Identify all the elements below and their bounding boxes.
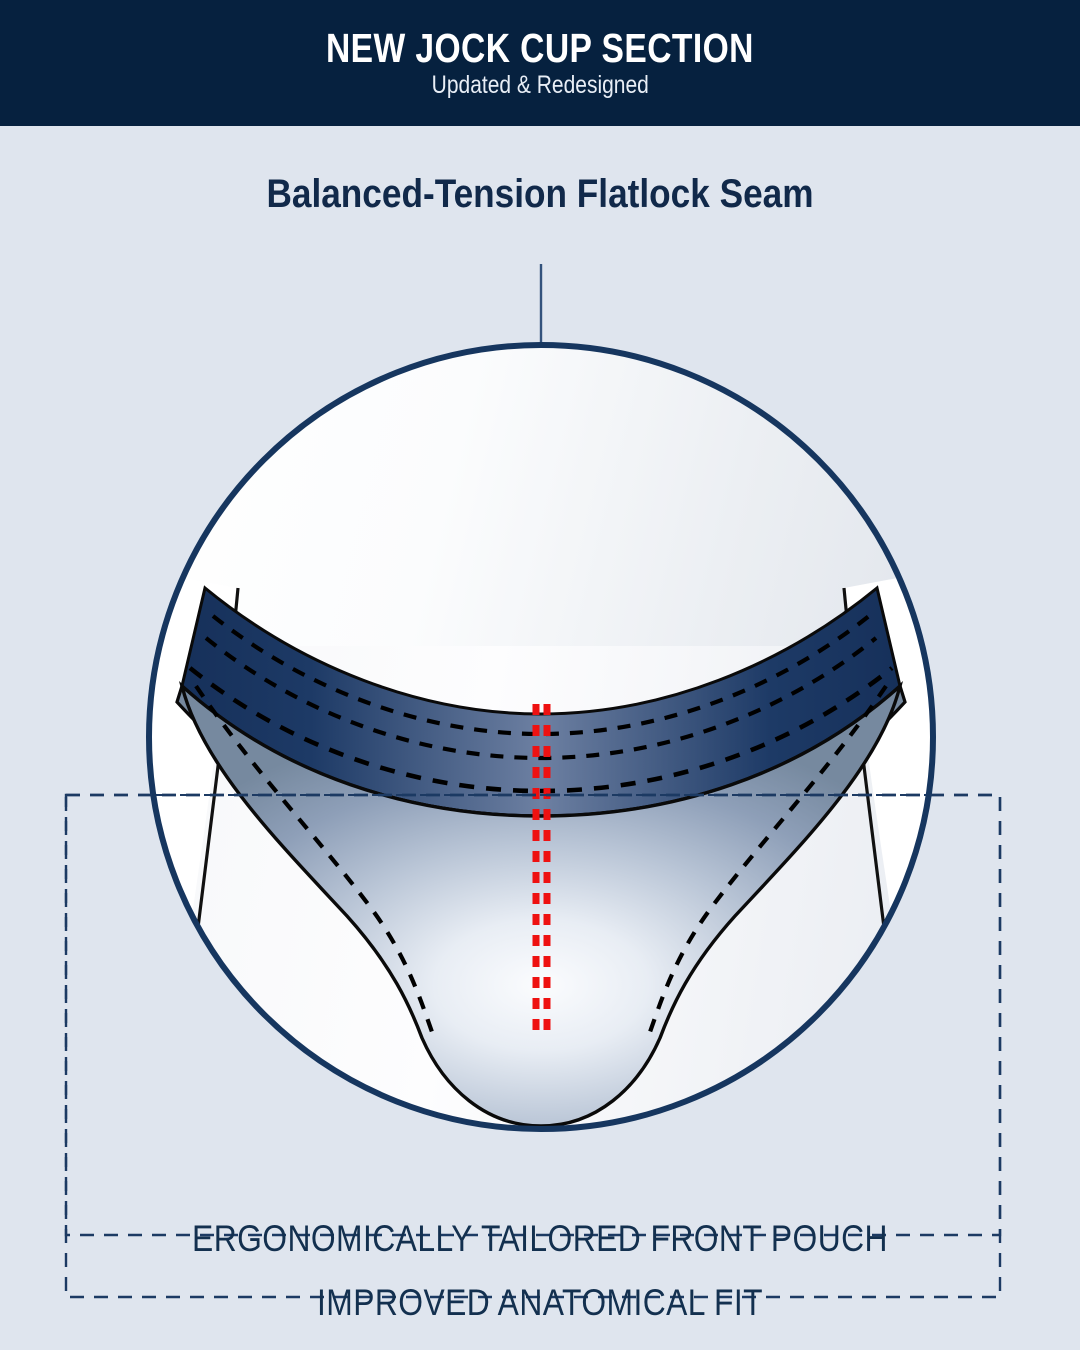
crotch-seam-right bbox=[541, 1126, 551, 1216]
header-title: NEW JOCK CUP SECTION bbox=[326, 27, 754, 70]
callout-secondary-caption: IMPROVED ANATOMICAL FIT bbox=[76, 1282, 1005, 1324]
jock-cup-diagram-svg bbox=[0, 126, 1080, 1350]
circle-illustration bbox=[60, 345, 1020, 1216]
callout-primary-caption: ERGONOMICALLY TAILORED FRONT POUCH bbox=[76, 1218, 1005, 1260]
illustration-stage bbox=[0, 126, 1080, 1350]
crotch-seam-left bbox=[536, 1126, 541, 1216]
header-subtitle: Updated & Redesigned bbox=[431, 72, 648, 98]
page-header: NEW JOCK CUP SECTION Updated & Redesigne… bbox=[0, 0, 1080, 126]
